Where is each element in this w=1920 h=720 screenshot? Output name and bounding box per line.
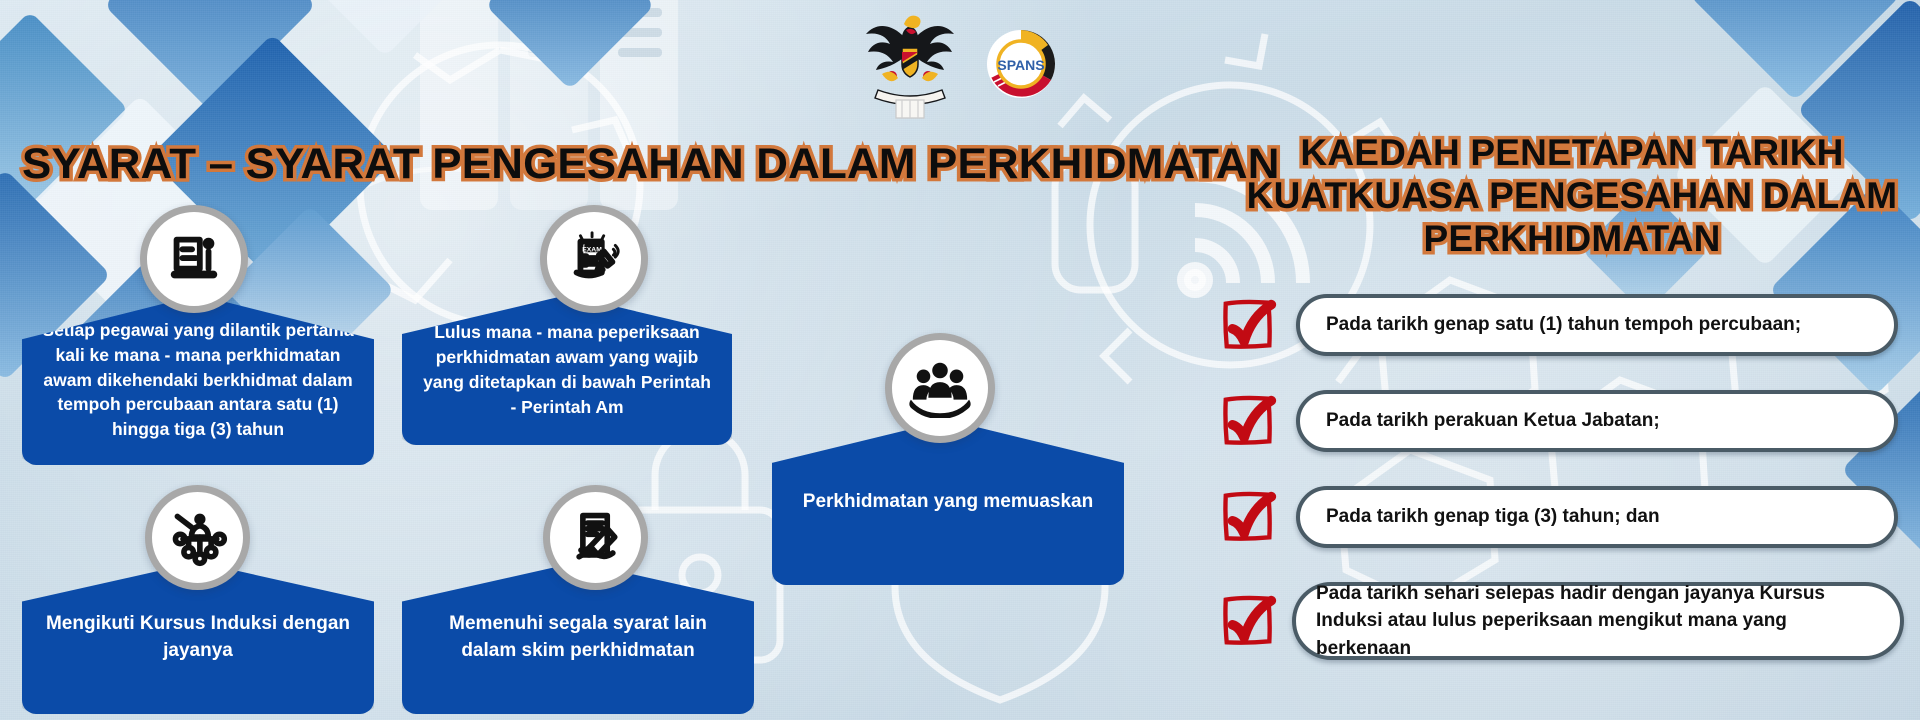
method-pill-3-text: Pada tarikh genap tiga (3) tahun; dan (1326, 503, 1660, 531)
method-pill-2-text: Pada tarikh perakuan Ketua Jabatan; (1326, 407, 1660, 435)
condition-card-5-text: Memenuhi segala syarat lain dalam skim p… (420, 611, 736, 665)
method-pill-4[interactable]: Pada tarikh sehari selepas hadir dengan … (1292, 582, 1904, 660)
condition-card-4-text: Mengikuti Kursus Induksi dengan jayanya (40, 611, 356, 665)
spans-logo-icon: SPANS (975, 28, 1067, 100)
signing-document-icon (543, 485, 648, 590)
condition-card-2-text: Lulus mana - mana peperiksaan perkhidmat… (420, 320, 714, 419)
page-title-right: KAEDAH PENETAPAN TARIKH KUATKUASA PENGES… (1222, 132, 1920, 261)
page-title-right-line-1: KAEDAH PENETAPAN TARIKH (1222, 132, 1920, 175)
bg-diamond (293, 0, 477, 57)
id-card-icon (140, 205, 248, 313)
method-row-1: Pada tarikh genap satu (1) tahun tempoh … (1218, 294, 1898, 356)
bg-diamond (485, 0, 655, 90)
method-pill-1-text: Pada tarikh genap satu (1) tahun tempoh … (1326, 311, 1801, 339)
condition-card-2: Lulus mana - mana peperiksaan perkhidmat… (402, 295, 732, 445)
red-checkbox-icon[interactable] (1218, 590, 1280, 652)
method-pill-1[interactable]: Pada tarikh genap satu (1) tahun tempoh … (1296, 294, 1898, 356)
method-pill-3[interactable]: Pada tarikh genap tiga (3) tahun; dan (1296, 486, 1898, 548)
page-title-left: SYARAT – SYARAT PENGESAHAN DALAM PERKHID… (22, 140, 1103, 190)
sarawak-state-crest-icon (860, 8, 960, 120)
page-title-right-line-2: KUATKUASA PENGESAHAN DALAM (1222, 175, 1920, 218)
red-checkbox-icon[interactable] (1218, 294, 1280, 356)
people-in-hand-icon (885, 333, 995, 443)
infographic-canvas: SPANS SYARAT – SYARAT PENGESAHAN DALAM P… (0, 0, 1920, 720)
method-row-4: Pada tarikh sehari selepas hadir dengan … (1218, 582, 1908, 660)
training-presenter-icon (145, 485, 250, 590)
spans-logo-text: SPANS (997, 57, 1044, 73)
condition-card-1-text: Setiap pegawai yang dilantik pertama kal… (40, 318, 356, 442)
red-checkbox-icon[interactable] (1218, 486, 1280, 548)
method-row-2: Pada tarikh perakuan Ketua Jabatan; (1218, 390, 1898, 452)
method-pill-4-text: Pada tarikh sehari selepas hadir dengan … (1316, 580, 1880, 663)
red-checkbox-icon[interactable] (1218, 390, 1280, 452)
method-pill-2[interactable]: Pada tarikh perakuan Ketua Jabatan; (1296, 390, 1898, 452)
method-row-3: Pada tarikh genap tiga (3) tahun; dan (1218, 486, 1898, 548)
condition-card-3: Perkhidmatan yang memuaskan (772, 420, 1124, 585)
page-title-right-line-3: PERKHIDMATAN (1222, 218, 1920, 261)
condition-card-3-text: Perkhidmatan yang memuaskan (790, 489, 1106, 516)
exam-paper-icon: EXAM (540, 205, 648, 313)
